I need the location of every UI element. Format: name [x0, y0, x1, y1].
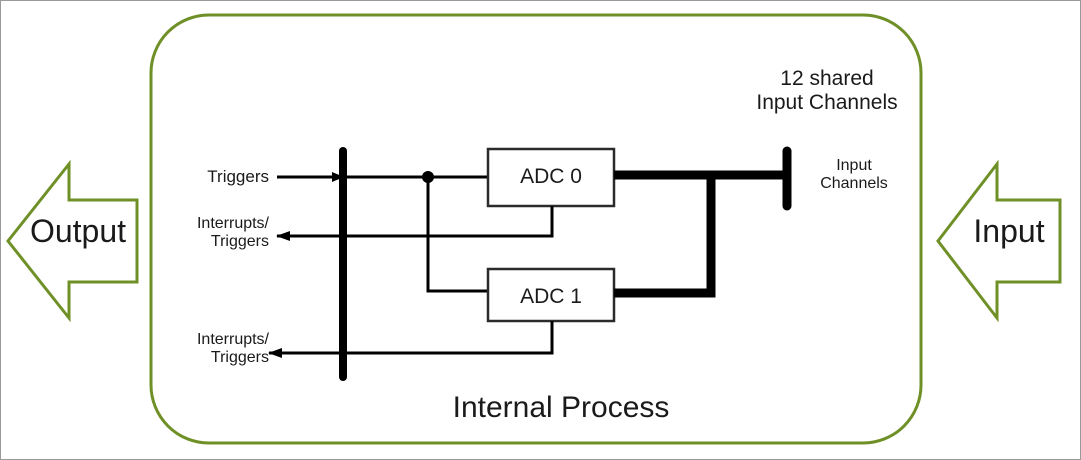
input-arrow-label: Input	[949, 213, 1069, 250]
adc0-feedback-line	[277, 206, 552, 236]
internal-process-title: Internal Process	[396, 391, 726, 425]
shared-input-channels-label: 12 shared Input Channels	[707, 67, 947, 114]
adc1-label: ADC 1	[488, 285, 614, 309]
adc1-feedback-line	[269, 321, 552, 353]
output-arrow-label: Output	[15, 213, 141, 250]
diagram-canvas: Triggers Interrupts/ Triggers Interrupts…	[0, 0, 1081, 460]
input-channels-terminal-label: Input Channels	[799, 157, 909, 193]
interrupt-trigger-label-0: Interrupts/ Triggers	[167, 215, 269, 251]
adc0-label: ADC 0	[488, 165, 614, 189]
interrupt-trigger-label-1: Interrupts/ Triggers	[167, 331, 269, 367]
trigger-input-label: Triggers	[179, 167, 269, 186]
junction-to-adc1-line	[428, 177, 488, 291]
adc1-channel-bus	[614, 175, 711, 293]
